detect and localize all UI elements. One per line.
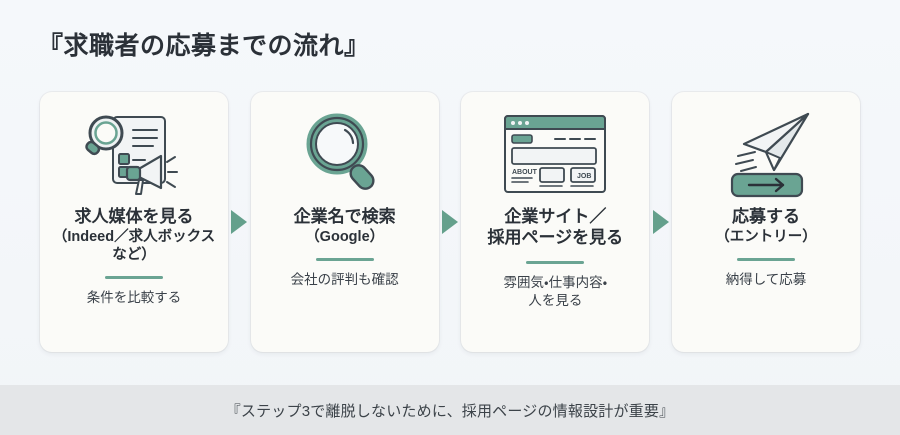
footer-note: 『ステップ3で離脱しないために、採用ページの情報設計が重要』 — [226, 400, 675, 421]
arrow-step-1-to-2 — [228, 92, 251, 352]
step-note: 会社の評判も確認 — [291, 271, 399, 289]
browser-job-label: JOB — [577, 173, 591, 180]
triangle-arrow-icon — [442, 210, 458, 234]
paper-plane-submit-icon — [682, 108, 850, 200]
step-title: 応募する — [732, 206, 800, 227]
triangle-arrow-icon — [231, 210, 247, 234]
arrow-step-2-to-3 — [439, 92, 462, 352]
step-note: 納得して応募 — [726, 271, 807, 289]
divider — [526, 261, 584, 264]
page-title: 『求職者の応募までの流れ』 — [38, 26, 370, 62]
step-card-2[interactable]: 企業名で検索 （Google） 会社の評判も確認 — [251, 92, 439, 352]
step-title: 求人媒体を見る — [75, 206, 194, 227]
browser-about-label: ABOUT — [512, 169, 538, 176]
step-card-3[interactable]: ABOUT JOB 企業サイト／ 採用ページを見る 雰囲気・仕事内容・ 人を見る — [461, 92, 649, 352]
browser-window-icon: ABOUT JOB — [471, 108, 639, 200]
divider — [316, 258, 374, 261]
step-subtitle: （Google） — [305, 229, 384, 247]
divider — [737, 258, 795, 261]
arrow-step-3-to-4 — [649, 92, 672, 352]
step-note: 雰囲気・仕事内容・ 人を見る — [504, 274, 608, 310]
step-title: 企業名で検索 — [294, 206, 396, 227]
step-subtitle: （エントリー） — [715, 229, 817, 247]
footer-band: 『ステップ3で離脱しないために、採用ページの情報設計が重要』 — [0, 385, 900, 435]
step-card-1[interactable]: 求人媒体を見る （Indeed／求人ボックス など） 条件を比較する — [40, 92, 228, 352]
step-title: 企業サイト／ 採用ページを見る — [488, 206, 624, 248]
magnifying-glass-icon — [261, 108, 429, 200]
flow-steps: 求人媒体を見る （Indeed／求人ボックス など） 条件を比較する 企業名で検… — [40, 92, 860, 352]
step-card-4[interactable]: 応募する （エントリー） 納得して応募 — [672, 92, 860, 352]
document-magnifier-megaphone-icon — [50, 108, 218, 200]
step-note: 条件を比較する — [87, 289, 182, 307]
infographic-root: 『求職者の応募までの流れ』 — [0, 0, 900, 435]
triangle-arrow-icon — [653, 210, 669, 234]
step-subtitle: （Indeed／求人ボックス など） — [53, 229, 215, 265]
divider — [105, 276, 163, 279]
